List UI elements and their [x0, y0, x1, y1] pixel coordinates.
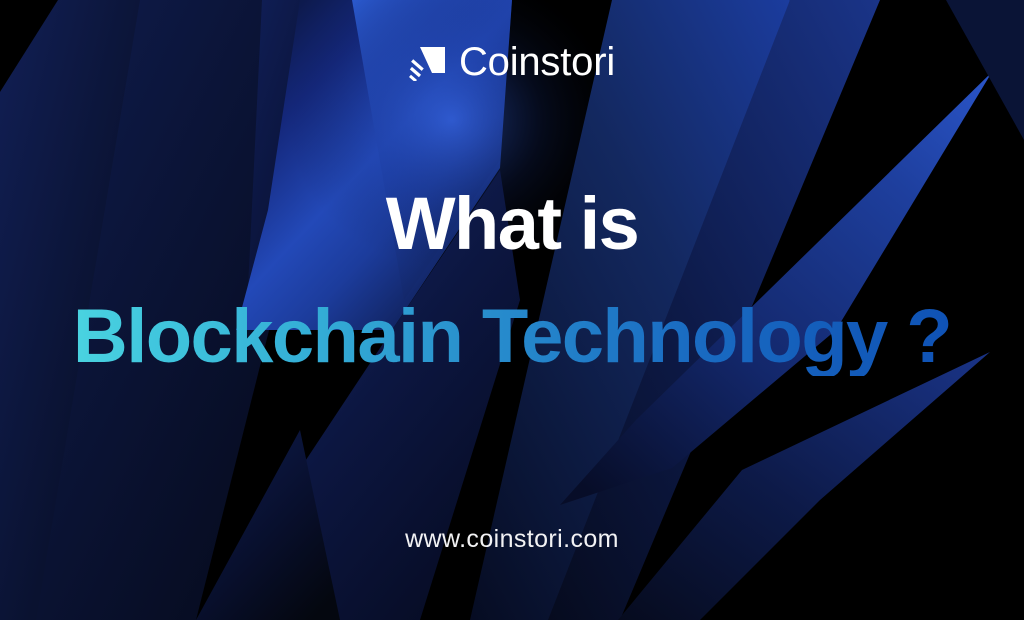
headline-line-1: What is	[0, 186, 1024, 261]
coinstori-arrow-icon	[409, 43, 449, 81]
promo-banner: Coinstori What is Blockchain Technology …	[0, 0, 1024, 620]
brand-lockup: Coinstori	[0, 42, 1024, 82]
headline-accent-text: Blockchain Technology ?	[73, 298, 951, 376]
headline-primary-text: What is	[0, 186, 1024, 261]
headline-line-2: Blockchain Technology ?	[0, 298, 1024, 376]
brand-name: Coinstori	[459, 42, 615, 82]
site-url[interactable]: www.coinstori.com	[0, 525, 1024, 554]
